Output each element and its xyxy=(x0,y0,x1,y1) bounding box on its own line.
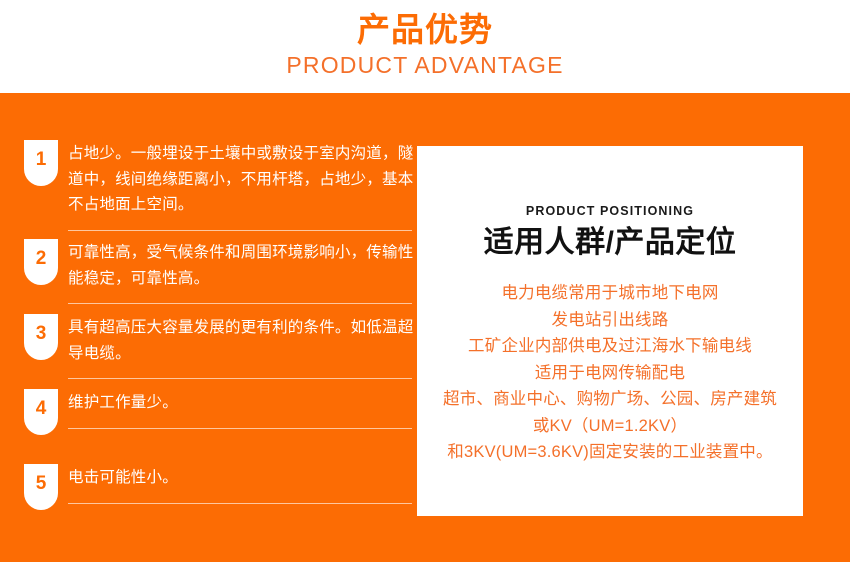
list-item: 2 可靠性高，受气候条件和周围环境影响小，传输性能稳定，可靠性高。 xyxy=(24,239,414,304)
page-subtitle: PRODUCT ADVANTAGE xyxy=(286,50,563,80)
list-item: 3 具有超高压大容量发展的更有利的条件。如低温超导电缆。 xyxy=(24,314,414,379)
item-number-badge: 1 xyxy=(24,140,58,186)
list-item-label: 电击可能性小。 xyxy=(68,465,414,491)
list-item-label: 占地少。一般埋设于土壤中或敷设于室内沟道，隧道中，线间绝缘距离小，不用杆塔，占地… xyxy=(68,141,414,218)
list-item-label: 维护工作量少。 xyxy=(68,390,414,416)
card-line: 电力电缆常用于城市地下电网 xyxy=(417,280,803,307)
list-item-label: 可靠性高，受气候条件和周围环境影响小，传输性能稳定，可靠性高。 xyxy=(68,240,414,291)
list-item-label: 具有超高压大容量发展的更有利的条件。如低温超导电缆。 xyxy=(68,315,414,366)
page-title: 产品优势 xyxy=(357,9,493,51)
list-item-divider xyxy=(68,503,412,504)
card-line: 发电站引出线路 xyxy=(417,307,803,334)
list-item: 4 维护工作量少。 xyxy=(24,389,414,435)
list-item-body: 电击可能性小。 xyxy=(68,464,414,504)
item-number-badge: 5 xyxy=(24,464,58,510)
product-positioning-card: PRODUCT POSITIONING 适用人群/产品定位 电力电缆常用于城市地… xyxy=(417,146,803,516)
list-item-body: 占地少。一般埋设于土壤中或敷设于室内沟道，隧道中，线间绝缘距离小，不用杆塔，占地… xyxy=(68,140,414,231)
list-item-divider xyxy=(68,230,412,231)
list-item-divider xyxy=(68,428,412,429)
page-header: 产品优势 PRODUCT ADVANTAGE xyxy=(0,0,850,93)
list-item: 5 电击可能性小。 xyxy=(24,464,414,510)
card-description: 电力电缆常用于城市地下电网 发电站引出线路 工矿企业内部供电及过江海水下输电线 … xyxy=(417,280,803,466)
item-number-badge: 3 xyxy=(24,314,58,360)
card-eyebrow: PRODUCT POSITIONING xyxy=(417,202,803,220)
list-item-body: 具有超高压大容量发展的更有利的条件。如低温超导电缆。 xyxy=(68,314,414,379)
card-line: 和3KV(UM=3.6KV)固定安装的工业装置中。 xyxy=(417,439,803,466)
list-item: 1 占地少。一般埋设于土壤中或敷设于室内沟道，隧道中，线间绝缘距离小，不用杆塔，… xyxy=(24,140,414,231)
list-item-body: 维护工作量少。 xyxy=(68,389,414,429)
list-item-divider xyxy=(68,378,412,379)
item-number-badge: 4 xyxy=(24,389,58,435)
list-item-divider xyxy=(68,303,412,304)
content-band: 1 占地少。一般埋设于土壤中或敷设于室内沟道，隧道中，线间绝缘距离小，不用杆塔，… xyxy=(0,93,850,562)
card-line: 适用于电网传输配电 xyxy=(417,360,803,387)
card-line: 工矿企业内部供电及过江海水下输电线 xyxy=(417,333,803,360)
card-title: 适用人群/产品定位 xyxy=(417,222,803,264)
card-line: 超市、商业中心、购物广场、公园、房产建筑 xyxy=(417,386,803,413)
card-line: 或KV（UM=1.2KV） xyxy=(417,413,803,440)
item-number-badge: 2 xyxy=(24,239,58,285)
list-item-body: 可靠性高，受气候条件和周围环境影响小，传输性能稳定，可靠性高。 xyxy=(68,239,414,304)
